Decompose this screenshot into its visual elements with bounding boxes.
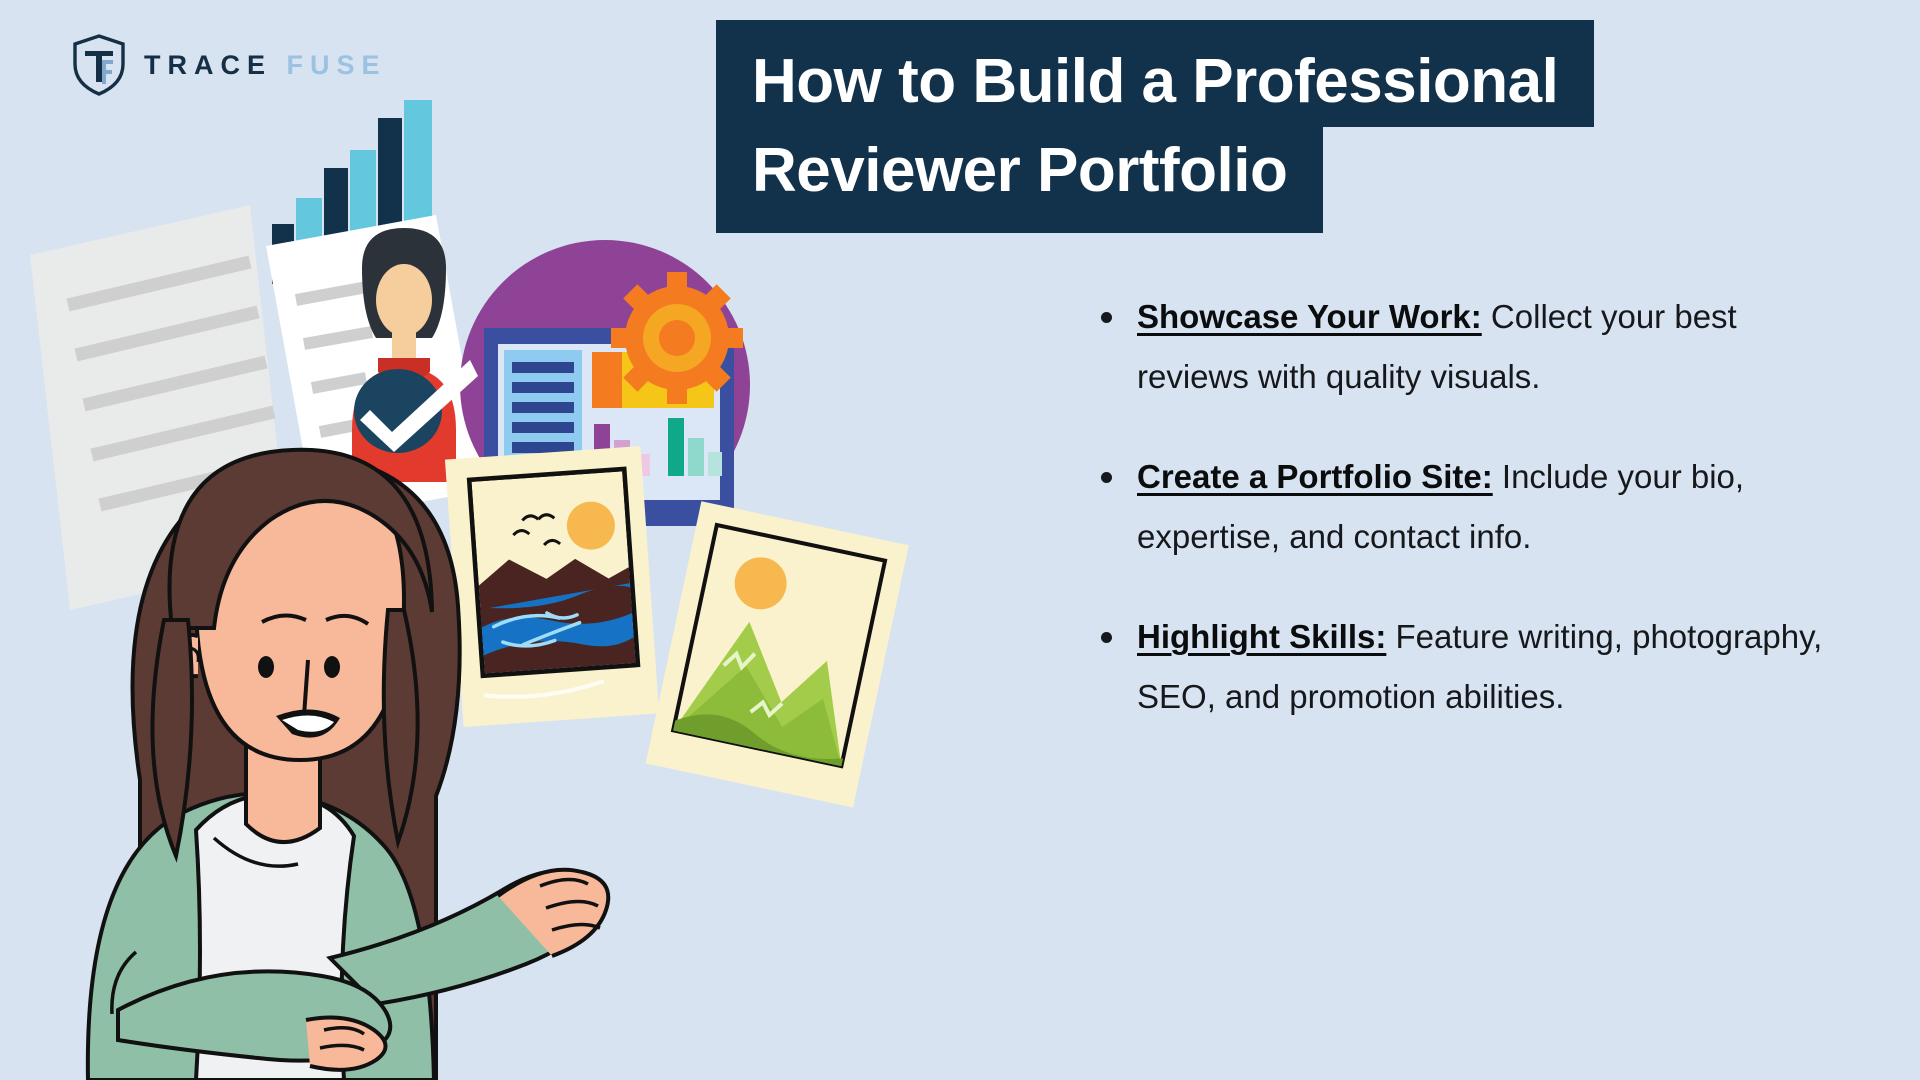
photo-card-river — [445, 446, 659, 727]
bullet-lead: Create a Portfolio Site: — [1137, 458, 1493, 495]
logo-text-trace: TRACE — [144, 50, 272, 80]
photo-card-mountain — [646, 501, 909, 807]
list-item: Showcase Your Work: Collect your best re… — [1093, 287, 1833, 407]
page-title-line-2: Reviewer Portfolio — [716, 127, 1323, 234]
shield-tf-icon — [72, 34, 126, 96]
bullet-lead: Highlight Skills: — [1137, 618, 1386, 655]
gear-icon — [611, 272, 743, 404]
bullet-dot-icon — [1101, 472, 1112, 483]
bullet-list: Showcase Your Work: Collect your best re… — [1093, 287, 1833, 727]
bullet-dot-icon — [1101, 632, 1112, 643]
page-title-line-1: How to Build a Professional — [716, 20, 1594, 127]
page-title: How to Build a Professional Reviewer Por… — [716, 20, 1902, 233]
tips-list: Showcase Your Work: Collect your best re… — [1093, 287, 1833, 727]
logo-wordmark: TRACE FUSE — [144, 52, 387, 79]
infographic-canvas: TRACE FUSE How to Build a Professional R… — [0, 0, 1920, 1080]
logo-text-fuse: FUSE — [287, 50, 387, 80]
bullet-dot-icon — [1101, 312, 1112, 323]
brand-logo[interactable]: TRACE FUSE — [72, 34, 387, 96]
list-item: Highlight Skills: Feature writing, photo… — [1093, 607, 1833, 727]
list-item: Create a Portfolio Site: Include your bi… — [1093, 447, 1833, 567]
bullet-lead: Showcase Your Work: — [1137, 298, 1482, 335]
